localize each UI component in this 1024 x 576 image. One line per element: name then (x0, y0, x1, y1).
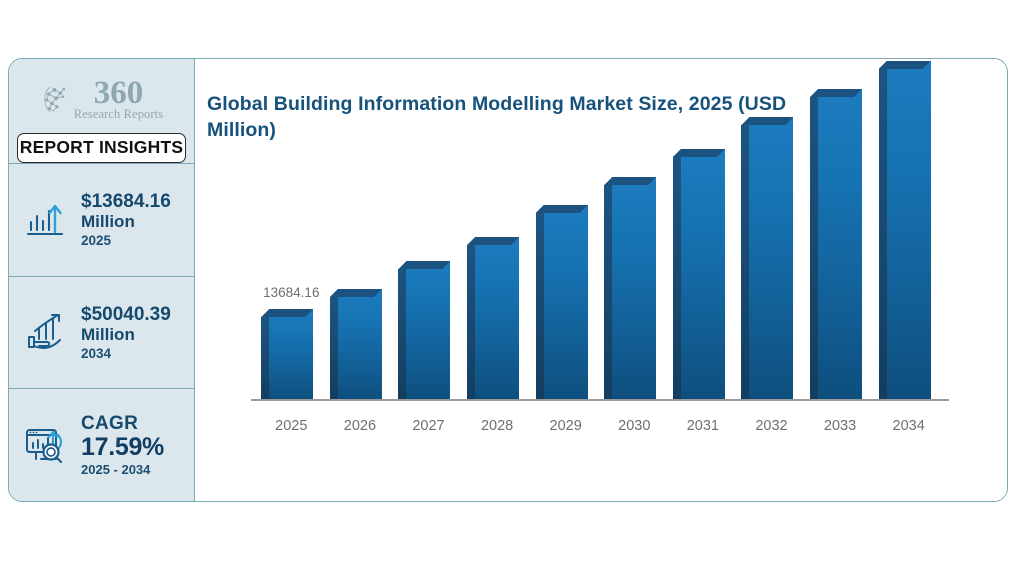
stat-unit-2025: Million (81, 212, 171, 231)
bar-front-face (544, 205, 588, 401)
bar-top-face (741, 117, 793, 125)
chart-pane: Global Building Information Modelling Ma… (195, 59, 1007, 501)
x-tick-2028: 2028 (463, 415, 532, 437)
bar-2025[interactable]: 13684.16 (269, 309, 313, 401)
stat-row-2025: $13684.16 Million 2025 (9, 164, 194, 276)
bar-slot-2027 (394, 95, 463, 401)
monitor-chart-magnifier-icon (19, 418, 73, 472)
bar-slot-2025: 13684.16 (257, 95, 326, 401)
bar-slot-2031 (669, 95, 738, 401)
stat-text-2025: $13684.16 Million 2025 (81, 191, 171, 248)
bar-front-face (406, 261, 450, 401)
bar-side-face (673, 157, 681, 401)
bar-slot-2030 (600, 95, 669, 401)
brand-name: 360 (94, 78, 144, 109)
x-tick-2026: 2026 (326, 415, 395, 437)
x-tick-2033: 2033 (806, 415, 875, 437)
x-tick-2027: 2027 (394, 415, 463, 437)
bar-front-face (887, 61, 931, 401)
x-tick-2030: 2030 (600, 415, 669, 437)
bar-top-face (604, 177, 656, 185)
bar-side-face (810, 97, 818, 401)
bar-top-face (398, 261, 450, 269)
stat-row-2034: $50040.39 Million 2034 (9, 277, 194, 389)
brand-logo-block: 360 Research Reports (9, 59, 194, 135)
bar-slot-2032 (737, 95, 806, 401)
bar-slot-2029 (531, 95, 600, 401)
hand-holding-growth-chart-icon (19, 306, 73, 360)
bar-front-face (338, 289, 382, 401)
bar-top-face (879, 61, 931, 69)
bar-side-face (536, 213, 544, 401)
cagr-value: 17.59% (81, 434, 164, 460)
report-insights-badge: REPORT INSIGHTS (17, 133, 186, 163)
bar-2027[interactable] (406, 261, 450, 401)
brand-wordmark: 360 Research Reports (74, 78, 163, 121)
report-insights-badge-wrap: REPORT INSIGHTS (9, 133, 194, 163)
infographic-card: 360 Research Reports REPORT INSIGHTS (8, 58, 1008, 502)
bar-2028[interactable] (475, 237, 519, 401)
stat-year-2034: 2034 (81, 346, 171, 361)
bar-front-face (269, 309, 313, 401)
stat-text-cagr: CAGR 17.59% 2025 - 2034 (81, 413, 164, 477)
bar-front-face (749, 117, 793, 401)
stat-value-2034: $50040.39 (81, 304, 171, 325)
bar-slot-2026 (326, 95, 395, 401)
network-nodes-icon (40, 83, 74, 117)
bar-2032[interactable] (749, 117, 793, 401)
x-tick-2032: 2032 (737, 415, 806, 437)
bar-side-face (879, 69, 887, 401)
bar-2033[interactable] (818, 89, 862, 401)
bar-side-face (467, 245, 475, 401)
bar-2026[interactable] (338, 289, 382, 401)
bar-top-face (536, 205, 588, 213)
bar-2031[interactable] (681, 149, 725, 401)
bar-2029[interactable] (544, 205, 588, 401)
bar-front-face (612, 177, 656, 401)
x-axis-line (251, 399, 949, 401)
bar-2030[interactable] (612, 177, 656, 401)
bar-slot-2028 (463, 95, 532, 401)
stat-text-2034: $50040.39 Million 2034 (81, 304, 171, 361)
brand-logo: 360 Research Reports (40, 78, 163, 121)
bar-series: 13684.1650040.39 (257, 95, 943, 401)
bar-chart-plot: 13684.1650040.39 20252026202720282029203… (241, 95, 949, 459)
bar-side-face (261, 317, 269, 401)
x-tick-2029: 2029 (531, 415, 600, 437)
stat-year-2025: 2025 (81, 233, 171, 248)
x-tick-2025: 2025 (257, 415, 326, 437)
bar-top-face (467, 237, 519, 245)
brand-tagline: Research Reports (74, 108, 163, 121)
bar-top-face (673, 149, 725, 157)
bar-side-face (330, 297, 338, 401)
bar-top-face (261, 309, 313, 317)
bar-front-face (475, 237, 519, 401)
bar-side-face (398, 269, 406, 401)
cagr-label: CAGR (81, 413, 164, 434)
bar-front-face (681, 149, 725, 401)
x-tick-2031: 2031 (669, 415, 738, 437)
bar-2034[interactable]: 50040.39 (887, 61, 931, 401)
bar-value-label-2025: 13684.16 (263, 285, 319, 300)
bar-slot-2034: 50040.39 (874, 95, 943, 401)
x-axis-tick-labels: 2025202620272028202920302031203220332034 (257, 415, 943, 437)
bar-top-face (330, 289, 382, 297)
bar-chart-up-arrow-icon (19, 193, 73, 247)
stat-unit-2034: Million (81, 325, 171, 344)
stat-value-2025: $13684.16 (81, 191, 171, 212)
bar-front-face (818, 89, 862, 401)
bar-side-face (604, 185, 612, 401)
bar-top-face (810, 89, 862, 97)
cagr-period: 2025 - 2034 (81, 463, 164, 478)
bar-slot-2033 (806, 95, 875, 401)
bar-side-face (741, 125, 749, 401)
insights-sidebar: 360 Research Reports REPORT INSIGHTS (9, 59, 195, 501)
stat-row-cagr: CAGR 17.59% 2025 - 2034 (9, 389, 194, 501)
x-tick-2034: 2034 (874, 415, 943, 437)
